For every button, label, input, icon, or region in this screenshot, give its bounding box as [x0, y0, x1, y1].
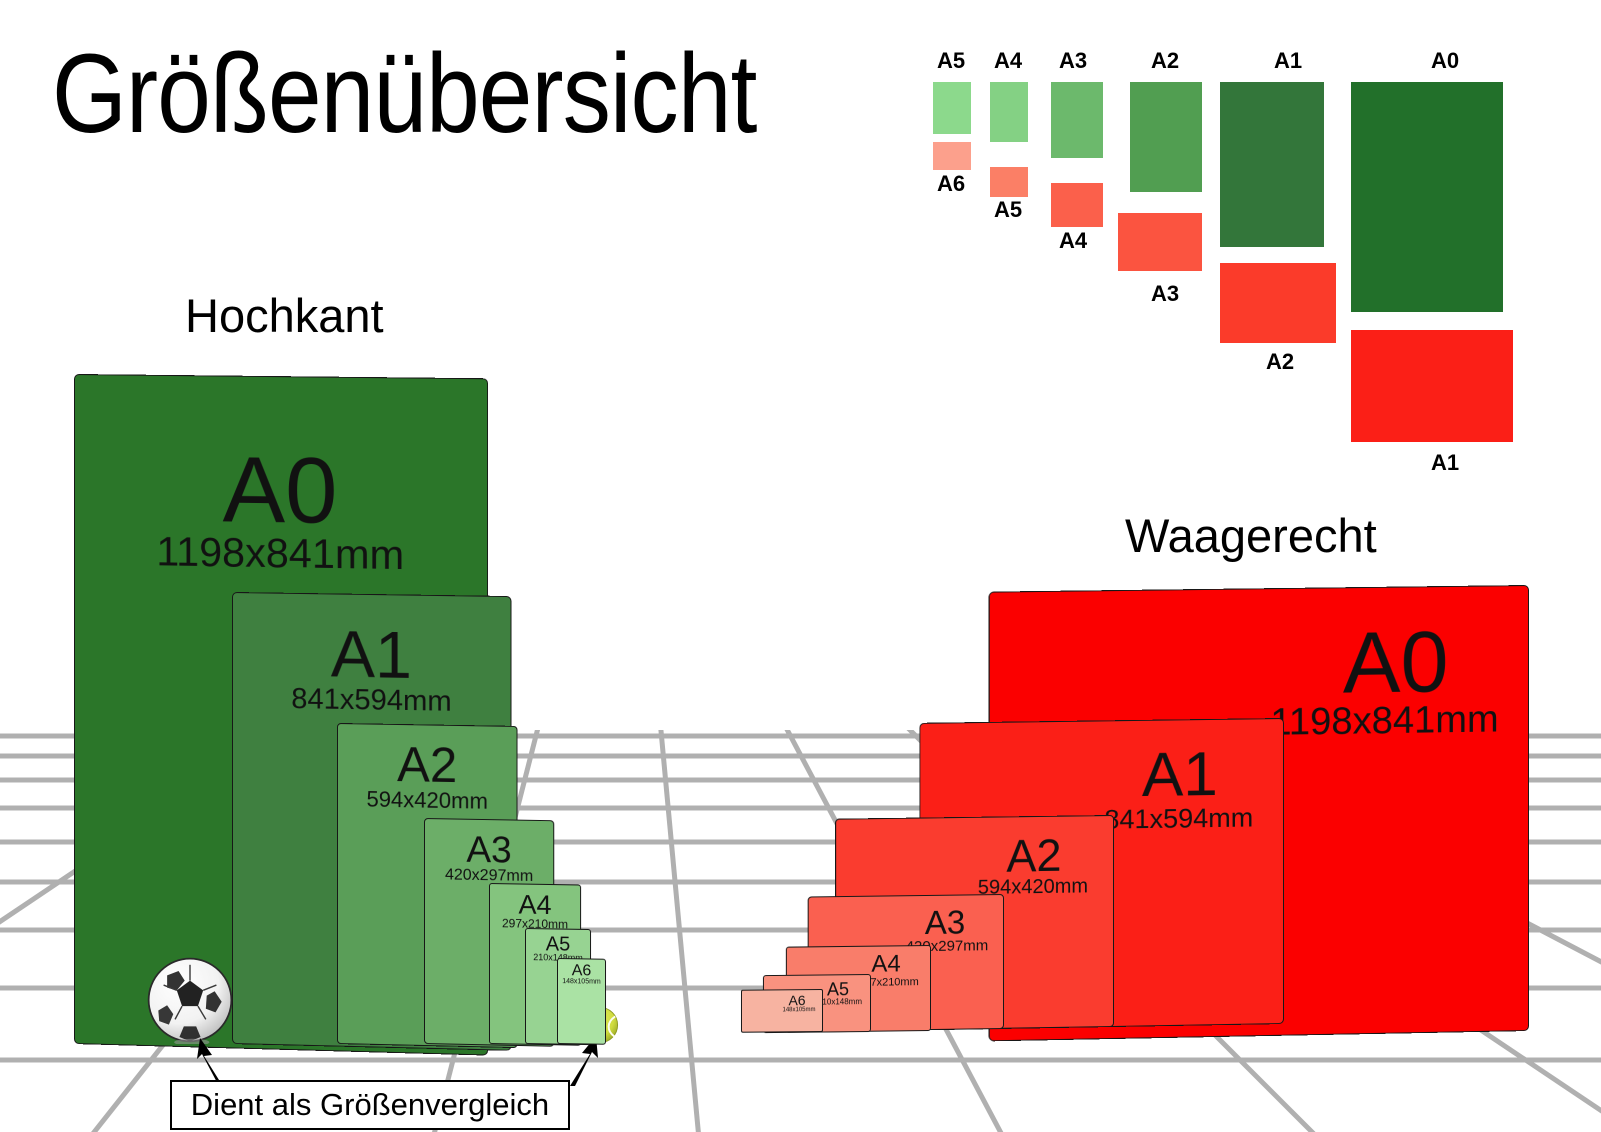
mini-rect-green-a0	[1351, 82, 1503, 312]
portrait-a3-dim: 420x297mm	[425, 867, 553, 885]
landscape-a2-name: A2	[979, 832, 1089, 879]
mini-rect-red-a1	[1351, 330, 1513, 442]
heading-portrait: Hochkant	[185, 288, 384, 343]
landscape-a6-name: A6	[780, 993, 814, 1007]
size-comparison-caption: Dient als Größenvergleich	[170, 1080, 570, 1130]
landscape-a6-dim: 148x105mm	[777, 1007, 821, 1013]
mini-rect-red-a5	[990, 167, 1028, 197]
portrait-a3-name: A3	[425, 830, 553, 869]
page-title: Größenübersicht	[52, 38, 756, 150]
caption-text: Dient als Größenvergleich	[191, 1087, 549, 1123]
portrait-a2-name: A2	[338, 740, 517, 792]
portrait-sheet-a6: A6 148x105mm	[557, 958, 606, 1045]
mini-label-a1-bottom: A1	[1395, 450, 1495, 476]
mini-label-a3-top: A3	[1047, 48, 1099, 74]
landscape-a3-name: A3	[905, 905, 985, 939]
mini-label-a2-bottom: A2	[1243, 349, 1317, 375]
heading-landscape: Waagerecht	[1125, 508, 1377, 563]
portrait-a0-dim: 1198x841mm	[75, 530, 487, 577]
portrait-a1-dim: 841x594mm	[233, 684, 511, 718]
portrait-a5-name: A5	[526, 934, 590, 955]
landscape-a0-name: A0	[1295, 618, 1496, 707]
mini-rect-green-a1	[1220, 82, 1324, 247]
mini-label-a0-top: A0	[1395, 48, 1495, 74]
landscape-a1-name: A1	[1105, 743, 1255, 807]
mini-rect-red-a6	[933, 142, 971, 170]
mini-rect-green-a4	[990, 82, 1028, 142]
landscape-sheet-a6: A6 148x105mm	[741, 989, 823, 1033]
poster-canvas: Größenübersicht A5 A6 A4 A5 A3 A4 A2 A3 …	[0, 0, 1601, 1132]
mini-label-a2-top: A2	[1128, 48, 1202, 74]
mini-rect-green-a5	[933, 82, 971, 134]
mini-label-a1-top: A1	[1238, 48, 1338, 74]
mini-label-a5-bottom: A5	[986, 197, 1030, 223]
mini-rect-green-a3	[1051, 82, 1103, 158]
mini-label-a3-bottom: A3	[1128, 281, 1202, 307]
mini-label-a4-bottom: A4	[1047, 228, 1099, 254]
portrait-a6-dim: 148x105mm	[558, 978, 605, 986]
landscape-a1-dim: 841x594mm	[1089, 804, 1269, 834]
mini-rect-red-a4	[1051, 183, 1103, 227]
portrait-a1-name: A1	[233, 619, 511, 690]
mini-label-a6-bottom: A6	[929, 171, 973, 197]
portrait-a2-dim: 594x420mm	[338, 788, 517, 813]
mini-rect-green-a2	[1130, 82, 1202, 192]
mini-label-a4-top: A4	[986, 48, 1030, 74]
landscape-a0-dim: 1198x841mm	[1259, 700, 1510, 742]
portrait-a6-name: A6	[558, 963, 605, 980]
portrait-a4-name: A4	[490, 891, 580, 920]
mini-label-a5-top: A5	[929, 48, 973, 74]
mini-rect-red-a2	[1220, 263, 1336, 343]
mini-rect-red-a3	[1118, 213, 1202, 271]
